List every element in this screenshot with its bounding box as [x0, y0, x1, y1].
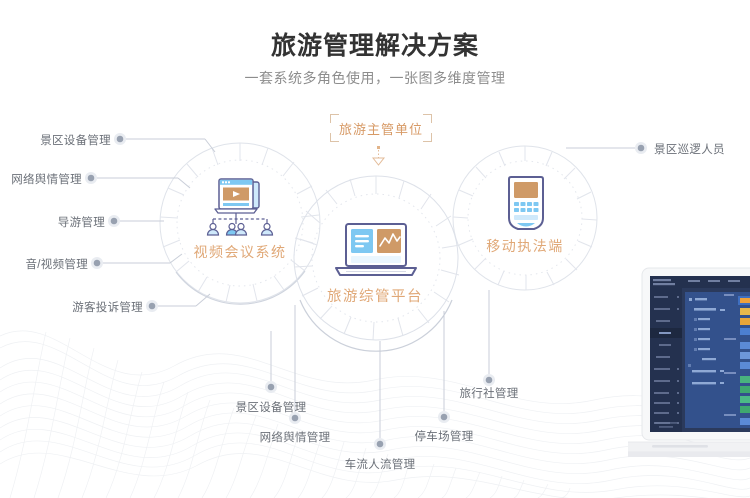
node-label-bottom-4[interactable]: 停车场管理 — [364, 428, 524, 444]
node-label-bottom-5[interactable]: 旅行社管理 — [409, 385, 569, 401]
authority-badge-label: 旅游主管单位 — [330, 114, 432, 142]
hub-caption-mobile-enforcement: 移动执法端 — [455, 236, 595, 256]
node-label-left-4[interactable]: 音/视频管理 — [0, 256, 88, 272]
node-label-right-1[interactable]: 景区巡逻人员 — [654, 141, 725, 157]
node-label-bottom-3[interactable]: 车流人流管理 — [300, 456, 460, 472]
hub-caption-video-conference: 视频会议系统 — [170, 242, 310, 262]
mobile-device-icon — [504, 176, 548, 232]
admin-dashboard-laptop-mockup[interactable] — [628, 252, 750, 498]
node-label-left-5[interactable]: 游客投诉管理 — [0, 299, 143, 315]
video-conference-icon — [197, 178, 283, 236]
node-label-left-3[interactable]: 导游管理 — [0, 214, 105, 230]
node-label-left-2[interactable]: 网络舆情管理 — [0, 171, 82, 187]
node-label-bottom-1[interactable]: 景区设备管理 — [191, 399, 351, 415]
bottom-connectors — [271, 290, 489, 438]
solution-diagram-page: 旅游管理解决方案 一套系统多角色使用，一张图多维度管理 — [0, 0, 750, 498]
node-label-bottom-2[interactable]: 网络舆情管理 — [215, 429, 375, 445]
node-label-left-1[interactable]: 景区设备管理 — [0, 132, 111, 148]
badge-arrow-connector — [373, 146, 384, 165]
laptop-platform-icon — [330, 222, 422, 284]
hub-caption-tourism-platform: 旅游综管平台 — [295, 285, 455, 306]
authority-badge[interactable]: 旅游主管单位 — [330, 114, 432, 142]
